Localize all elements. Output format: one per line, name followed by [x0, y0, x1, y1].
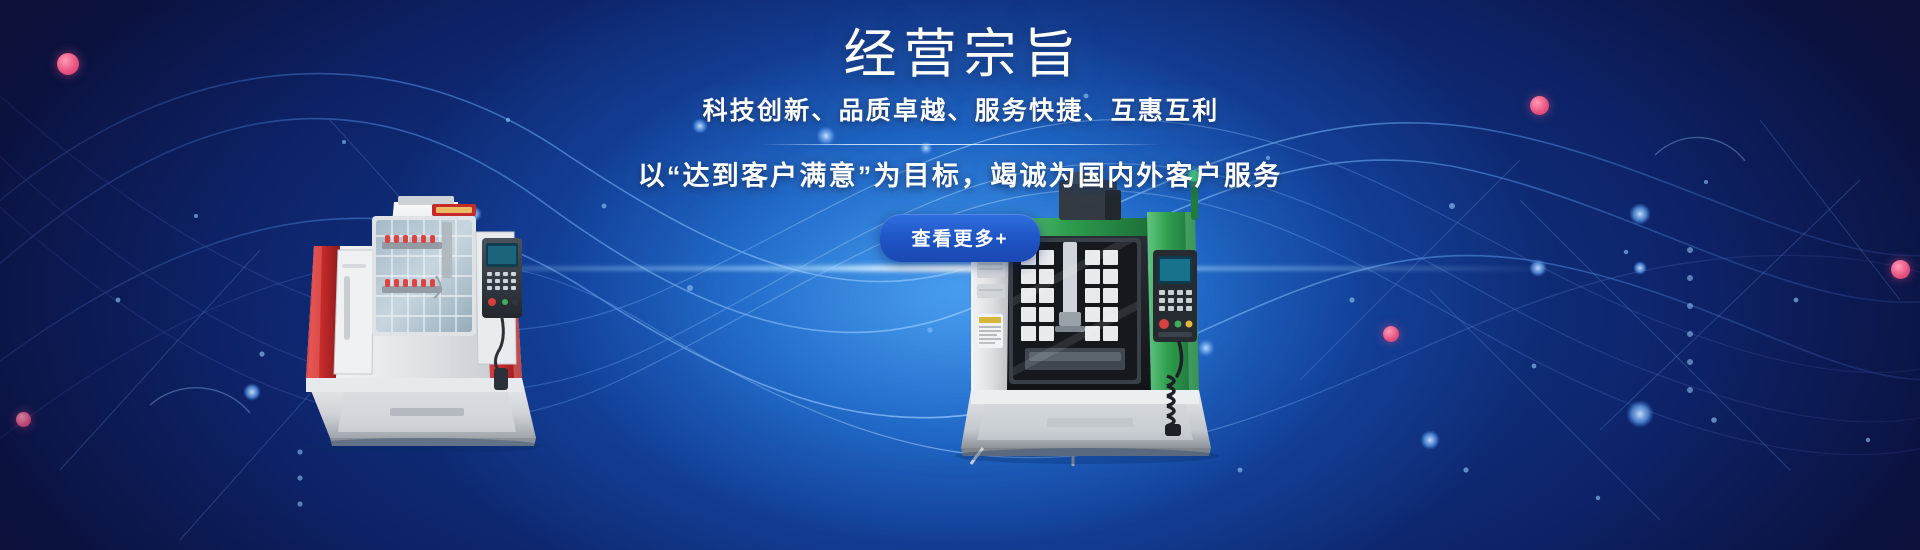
view-more-button[interactable]: 查看更多+: [880, 214, 1039, 262]
banner-subtitle: 科技创新、品质卓越、服务快捷、互惠互利: [0, 96, 1920, 126]
accent-dot: [16, 412, 31, 427]
promo-banner: 经营宗旨 科技创新、品质卓越、服务快捷、互惠互利 以“达到客户满意”为目标，竭诚…: [0, 0, 1920, 550]
accent-dot: [1383, 326, 1399, 342]
banner-tagline: 以“达到客户满意”为目标，竭诚为国内外客户服务: [0, 160, 1920, 192]
cta-container: 查看更多+: [0, 214, 1920, 262]
accent-dot: [1891, 260, 1910, 279]
page-title: 经营宗旨: [0, 26, 1920, 83]
banner-copy: 经营宗旨 科技创新、品质卓越、服务快捷、互惠互利 以“达到客户满意”为目标，竭诚…: [0, 26, 1920, 262]
divider: [760, 144, 1160, 145]
